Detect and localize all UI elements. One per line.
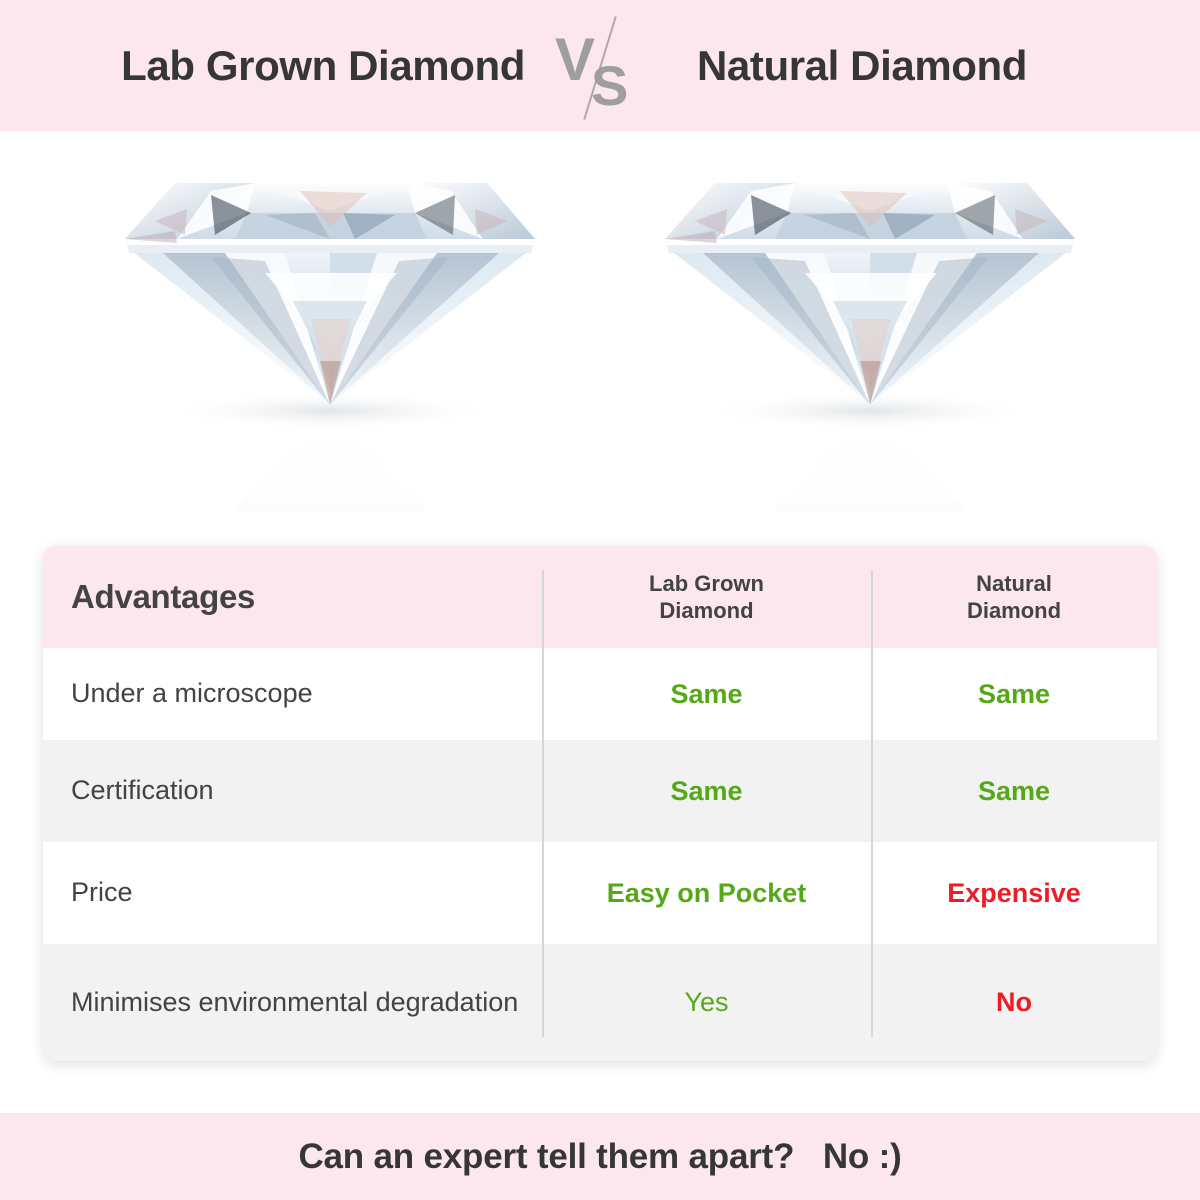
value-text: Same (978, 678, 1050, 710)
column-header-natural-line1: Natural (967, 570, 1061, 598)
comparison-card: Advantages Lab Grown Diamond Natural Dia… (43, 546, 1157, 1061)
column-header-natural: Natural Diamond (967, 570, 1061, 625)
row-value-natural: Same (871, 775, 1157, 807)
header-cell-lab-grown: Lab Grown Diamond (542, 570, 871, 625)
vs-badge: V S (535, 6, 665, 126)
comparison-table: Advantages Lab Grown Diamond Natural Dia… (43, 546, 1157, 1061)
value-text: Same (670, 678, 742, 710)
table-header-row: Advantages Lab Grown Diamond Natural Dia… (43, 546, 1157, 648)
row-label: Certification (71, 775, 214, 805)
diamond-gallery (0, 131, 1200, 531)
row-value-lab-grown: Same (542, 775, 871, 807)
lab-grown-diamond-image (115, 161, 545, 511)
value-text: Same (978, 775, 1050, 807)
row-label: Price (71, 877, 133, 907)
header-left-title: Lab Grown Diamond (65, 42, 535, 90)
value-text: Same (670, 775, 742, 807)
table-row: Minimises environmental degradation Yes … (43, 944, 1157, 1061)
row-label: Minimises environmental degradation (71, 987, 518, 1017)
row-value-lab-grown: Same (542, 678, 871, 710)
value-text: No (996, 986, 1032, 1018)
column-header-natural-line2: Diamond (967, 597, 1061, 625)
header-band: Lab Grown Diamond V S Natural Diamond (0, 0, 1200, 131)
row-label-cell: Price (43, 875, 542, 910)
row-label-cell: Certification (43, 773, 542, 808)
value-text: Expensive (947, 877, 1081, 909)
table-row: Certification Same Same (43, 740, 1157, 842)
column-header-lab-grown: Lab Grown Diamond (649, 570, 764, 625)
advantages-title: Advantages (71, 578, 255, 615)
header-cell-advantages: Advantages (43, 578, 542, 616)
row-value-natural: No (871, 986, 1157, 1018)
natural-diamond-image (655, 161, 1085, 511)
footer-question: Can an expert tell them apart? No :) (298, 1137, 901, 1177)
column-divider-2 (871, 570, 873, 1037)
infographic-page: Lab Grown Diamond V S Natural Diamond (0, 0, 1200, 1200)
row-value-lab-grown: Easy on Pocket (542, 877, 871, 909)
row-value-lab-grown: Yes (542, 986, 871, 1018)
column-divider-1 (542, 570, 544, 1037)
header-cell-natural: Natural Diamond (871, 570, 1157, 625)
column-header-lab-grown-line1: Lab Grown (649, 570, 764, 598)
footer-band: Can an expert tell them apart? No :) (0, 1113, 1200, 1200)
vs-letter-v: V (555, 30, 595, 90)
value-text: Easy on Pocket (607, 877, 807, 909)
column-header-lab-grown-line2: Diamond (649, 597, 764, 625)
row-label-cell: Minimises environmental degradation (43, 985, 542, 1020)
table-row: Price Easy on Pocket Expensive (43, 842, 1157, 944)
value-text: Yes (684, 986, 728, 1018)
row-label-cell: Under a microscope (43, 676, 542, 711)
table-row: Under a microscope Same Same (43, 648, 1157, 740)
row-value-natural: Same (871, 678, 1157, 710)
vs-letter-s: S (591, 58, 628, 114)
row-value-natural: Expensive (871, 877, 1157, 909)
row-label: Under a microscope (71, 678, 313, 708)
header-right-title: Natural Diamond (665, 42, 1135, 90)
